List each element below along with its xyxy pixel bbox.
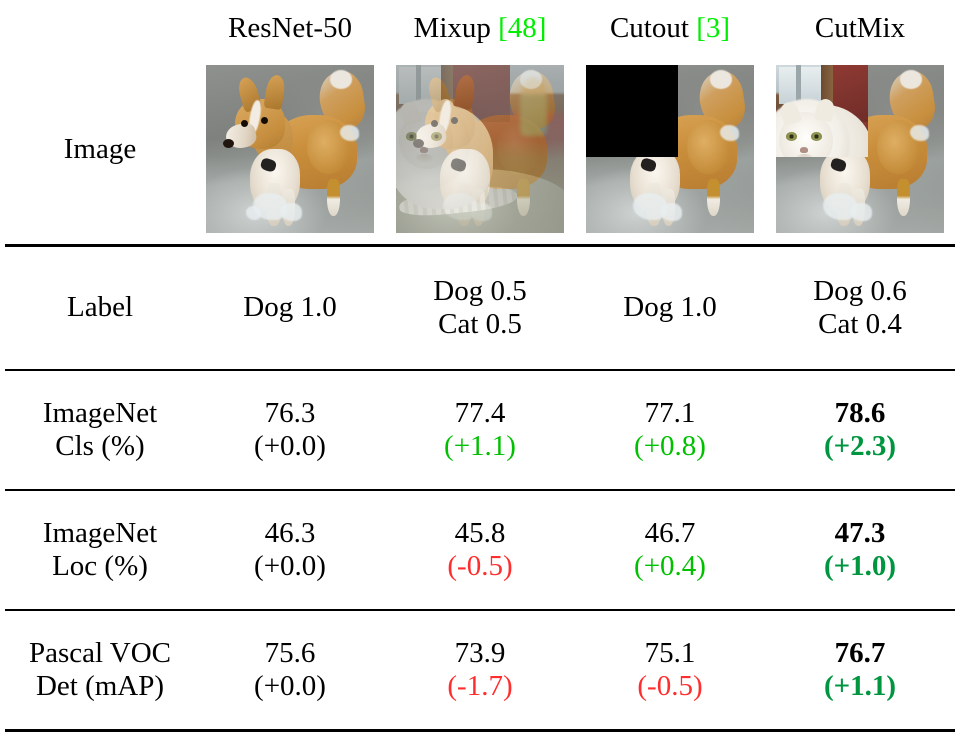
label-line: Dog 1.0	[195, 291, 385, 324]
metric-value: 47.3	[765, 517, 955, 550]
thumbnail-cutmix	[776, 65, 944, 233]
metric-delta: (+0.0)	[195, 430, 385, 463]
metric-cell-cutmix: 78.6 (+2.3)	[765, 370, 955, 490]
label-line: Dog 0.5	[385, 275, 575, 308]
patch-cat-muzzle	[796, 154, 813, 157]
table-header-row: ResNet-50 Mixup [48] Cutout [3] CutMix	[5, 0, 955, 58]
row-label-imagenet-cls: ImageNet Cls (%)	[5, 370, 195, 490]
thumbnail-corgi-in-water	[206, 65, 374, 233]
row-label-line: ImageNet	[5, 517, 195, 550]
water-splash-2-overlay	[470, 203, 492, 221]
water-splash-3-cutout	[720, 125, 738, 140]
thumbnail-cutout-corgi	[586, 65, 754, 233]
metric-value: 73.9	[385, 637, 575, 670]
metric-value: 78.6	[765, 397, 955, 430]
cutout-black-patch	[586, 65, 678, 157]
mixup-overlay-corgi	[396, 65, 564, 233]
citation-ref-mixup[interactable]: [48]	[498, 12, 546, 44]
label-line: Cat 0.5	[385, 308, 575, 341]
column-header-cutmix-label: CutMix	[815, 12, 905, 44]
metric-cell-resnet: 76.3 (+0.0)	[195, 370, 385, 490]
thumbnail-mixup-blend	[396, 65, 564, 233]
photo-corgi-in-water-cutout	[586, 65, 754, 233]
citation-ref-cutout[interactable]: [3]	[696, 12, 730, 44]
metric-cell-cutout: 77.1 (+0.8)	[575, 370, 765, 490]
row-label-line: Loc (%)	[5, 550, 195, 583]
label-line: Cat 0.4	[765, 308, 955, 341]
figure-table-container: ResNet-50 Mixup [48] Cutout [3] CutMix I…	[0, 0, 960, 684]
column-header-cutmix: CutMix	[765, 0, 955, 58]
column-header-mixup-label: Mixup	[414, 12, 491, 44]
metric-cell-cutmix: 76.7 (+1.1)	[765, 610, 955, 731]
metric-cell-mixup: 73.9 (-1.7)	[385, 610, 575, 731]
column-header-mixup: Mixup [48]	[385, 0, 575, 58]
pascal-voc-det-row: Pascal VOC Det (mAP) 75.6 (+0.0) 73.9 (-…	[5, 610, 955, 731]
row-label-line: Cls (%)	[5, 430, 195, 463]
corgi-rear-leg	[327, 179, 340, 216]
metric-value: 46.3	[195, 517, 385, 550]
metric-cell-cutout: 46.7 (+0.4)	[575, 490, 765, 610]
label-line: Dog 0.6	[765, 275, 955, 308]
corgi-tail-tip-cutout	[710, 70, 732, 88]
image-row: Image	[5, 58, 955, 246]
water-splash-2-cutout	[660, 203, 682, 221]
image-cell-mixup	[385, 58, 575, 246]
metric-delta: (+1.1)	[385, 430, 575, 463]
metric-value: 77.4	[385, 397, 575, 430]
label-row: Label Dog 1.0 Dog 0.5 Cat 0.5 Dog 1.0 Do…	[5, 246, 955, 371]
image-cell-cutmix	[765, 58, 955, 246]
label-cell-cutmix: Dog 0.6 Cat 0.4	[765, 246, 955, 371]
patch-cat-eye-left	[786, 132, 797, 140]
corgi-ear-right	[264, 74, 287, 110]
label-line: Dog 1.0	[575, 291, 765, 324]
corgi-tail-tip	[330, 70, 352, 88]
column-header-resnet: ResNet-50	[195, 0, 385, 58]
metric-value: 77.1	[575, 397, 765, 430]
metric-cell-mixup: 77.4 (+1.1)	[385, 370, 575, 490]
patch-cat-on-bed-scene	[776, 65, 868, 157]
patch-cat-eye-right	[811, 132, 822, 140]
metric-delta: (-0.5)	[385, 550, 575, 583]
cutmix-pasted-cat-patch	[776, 65, 868, 157]
photo-corgi-in-water-overlay	[396, 65, 564, 233]
metric-delta: (+0.0)	[195, 670, 385, 703]
photo-corgi-in-water-cutmix	[776, 65, 944, 233]
metric-cell-resnet: 75.6 (+0.0)	[195, 610, 385, 731]
image-cell-cutout	[575, 58, 765, 246]
header-corner-cell	[5, 0, 195, 58]
metric-value: 75.6	[195, 637, 385, 670]
row-label-pascal-voc-det: Pascal VOC Det (mAP)	[5, 610, 195, 731]
label-cell-mixup: Dog 0.5 Cat 0.5	[385, 246, 575, 371]
corgi-tail-tip-cutmix	[900, 70, 922, 88]
imagenet-cls-row: ImageNet Cls (%) 76.3 (+0.0) 77.4 (+1.1)…	[5, 370, 955, 490]
metric-value: 75.1	[575, 637, 765, 670]
corgi-rear-leg-cutmix	[897, 179, 910, 216]
water-splash-3-cutmix	[910, 125, 928, 140]
water-splash-4	[246, 206, 261, 219]
water-splash-2	[280, 203, 302, 221]
metric-value: 76.7	[765, 637, 955, 670]
metric-delta: (+0.4)	[575, 550, 765, 583]
metric-delta: (+2.3)	[765, 430, 955, 463]
metric-value: 45.8	[385, 517, 575, 550]
metric-cell-resnet: 46.3 (+0.0)	[195, 490, 385, 610]
corgi-nose	[223, 139, 234, 148]
water-splash-2-cutmix	[850, 203, 872, 221]
corgi-nose-overlay	[413, 139, 424, 148]
corgi-ear-right-overlay	[454, 74, 477, 110]
patch-cat-nose	[800, 147, 808, 152]
corgi-rear-leg-cutout	[707, 179, 720, 216]
metric-delta: (-1.7)	[385, 670, 575, 703]
water-splash-3	[340, 125, 358, 140]
metric-delta: (-0.5)	[575, 670, 765, 703]
metric-delta: (+1.0)	[765, 550, 955, 583]
metric-delta: (+1.1)	[765, 670, 955, 703]
metric-cell-mixup: 45.8 (-0.5)	[385, 490, 575, 610]
imagenet-loc-row: ImageNet Loc (%) 46.3 (+0.0) 45.8 (-0.5)…	[5, 490, 955, 610]
metric-value: 76.3	[195, 397, 385, 430]
photo-corgi-in-water	[206, 65, 374, 233]
row-label-imagenet-loc: ImageNet Loc (%)	[5, 490, 195, 610]
column-header-cutout-label: Cutout	[610, 12, 689, 44]
image-cell-resnet	[195, 58, 385, 246]
corgi-tail-tip-overlay	[520, 70, 542, 88]
label-cell-cutout: Dog 1.0	[575, 246, 765, 371]
metric-value: 46.7	[575, 517, 765, 550]
metric-cell-cutmix: 47.3 (+1.0)	[765, 490, 955, 610]
metric-cell-cutout: 75.1 (-0.5)	[575, 610, 765, 731]
row-label-label: Label	[5, 246, 195, 371]
label-cell-resnet: Dog 1.0	[195, 246, 385, 371]
metric-delta: (+0.0)	[195, 550, 385, 583]
patch-room-window	[779, 67, 823, 104]
comparison-table: ResNet-50 Mixup [48] Cutout [3] CutMix I…	[5, 0, 955, 732]
row-label-image: Image	[5, 58, 195, 246]
metric-delta: (+0.8)	[575, 430, 765, 463]
patch-room-window-mullion	[796, 65, 801, 102]
column-header-cutout: Cutout [3]	[575, 0, 765, 58]
corgi-rear-leg-overlay	[517, 179, 530, 216]
row-label-line: Pascal VOC	[5, 637, 195, 670]
row-label-line: ImageNet	[5, 397, 195, 430]
row-label-line: Det (mAP)	[5, 670, 195, 703]
column-header-resnet-label: ResNet-50	[228, 12, 352, 44]
